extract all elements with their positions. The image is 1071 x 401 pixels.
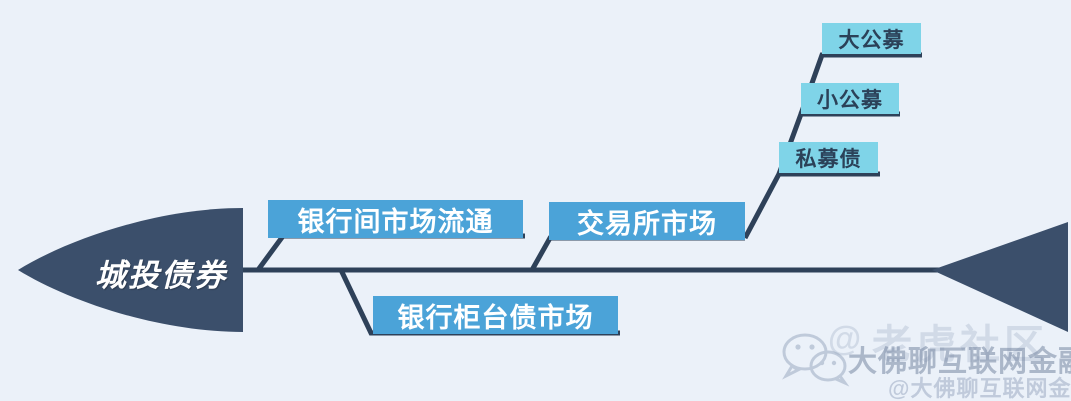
branch-label-counter[interactable]: 银行柜台债市场 — [373, 296, 618, 334]
diagram-canvas: 城投债券 银行间市场流通 交易所市场 银行柜台债市场 私募债 小公募 大公募 老… — [0, 0, 1071, 401]
branch-label-private-debt[interactable]: 私募债 — [779, 142, 878, 173]
branch-label-exchange[interactable]: 交易所市场 — [549, 202, 745, 240]
head-label: 城投债券 — [95, 250, 227, 295]
connector-interbank — [258, 236, 525, 270]
connector-exchange — [532, 238, 745, 270]
branch-label-small-public[interactable]: 小公募 — [801, 83, 899, 114]
fishbone-artwork — [0, 0, 1071, 401]
wechat-icon — [784, 335, 845, 383]
branch-label-interbank[interactable]: 银行间市场流通 — [268, 200, 523, 238]
connector-private-debt — [745, 174, 880, 238]
branch-label-big-public[interactable]: 大公募 — [822, 23, 921, 54]
tail-shape — [932, 222, 1068, 332]
